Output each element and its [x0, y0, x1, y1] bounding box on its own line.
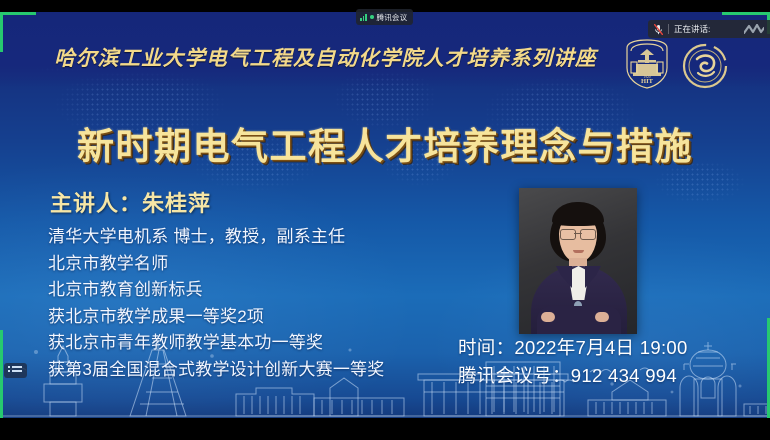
audio-wave-icon	[744, 24, 764, 34]
status-dot-icon	[370, 15, 374, 19]
svg-text:1920: 1920	[643, 75, 650, 79]
credential-item: 获北京市教学成果一等奖2项	[48, 304, 488, 331]
speaking-label: 正在讲话:	[674, 23, 710, 35]
network-status-badge[interactable]: 腾讯会议	[356, 9, 413, 25]
meeting-details: 时间：2022年7月4日 19:00 腾讯会议号：912 434 994	[458, 334, 688, 390]
slide-main-title: 新时期电气工程人才培养理念与措施	[0, 116, 770, 170]
active-speaker-bar[interactable]: 正在讲话:	[648, 20, 770, 38]
letterbox-bottom	[0, 418, 770, 440]
credential-item: 北京市教学名师	[48, 251, 488, 278]
signal-bars-icon	[360, 13, 367, 21]
meeting-time: 时间：2022年7月4日 19:00	[458, 334, 688, 362]
separator	[668, 24, 669, 34]
speaker-portrait	[519, 188, 637, 334]
credential-item: 获第3届全国混合式教学设计创新大赛一等奖	[48, 357, 488, 384]
active-speaker-border	[0, 12, 3, 52]
active-speaker-border	[0, 12, 36, 15]
lecture-series-title: 哈尔滨工业大学电气工程及自动化学院人才培养系列讲座	[38, 41, 613, 71]
active-speaker-border	[722, 12, 770, 15]
speaker-credentials: 清华大学电机系 博士，教授，副系主任 北京市教学名师 北京市教育创新标兵 获北京…	[48, 224, 488, 383]
speaker-name-line: 主讲人：朱桂萍	[50, 186, 211, 218]
network-badge-label: 腾讯会议	[377, 12, 408, 23]
credential-item: 北京市教育创新标兵	[48, 277, 488, 304]
eyeglasses	[560, 229, 596, 238]
list-view-icon[interactable]	[4, 363, 27, 378]
shared-slide: 哈尔滨工业大学电气工程及自动化学院人才培养系列讲座 HIT 1920	[0, 12, 770, 418]
meeting-window: 哈尔滨工业大学电气工程及自动化学院人才培养系列讲座 HIT 1920	[0, 0, 770, 440]
credential-item: 清华大学电机系 博士，教授，副系主任	[48, 224, 488, 251]
active-speaker-border	[0, 330, 3, 418]
meeting-id: 腾讯会议号：912 434 994	[458, 362, 688, 390]
svg-text:HIT: HIT	[641, 78, 654, 85]
credential-item: 获北京市青年教师教学基本功一等奖	[48, 330, 488, 357]
mic-muted-icon	[654, 24, 663, 35]
school-emblem-logo-icon	[681, 42, 729, 90]
hit-shield-logo-icon: HIT 1920	[621, 38, 673, 90]
